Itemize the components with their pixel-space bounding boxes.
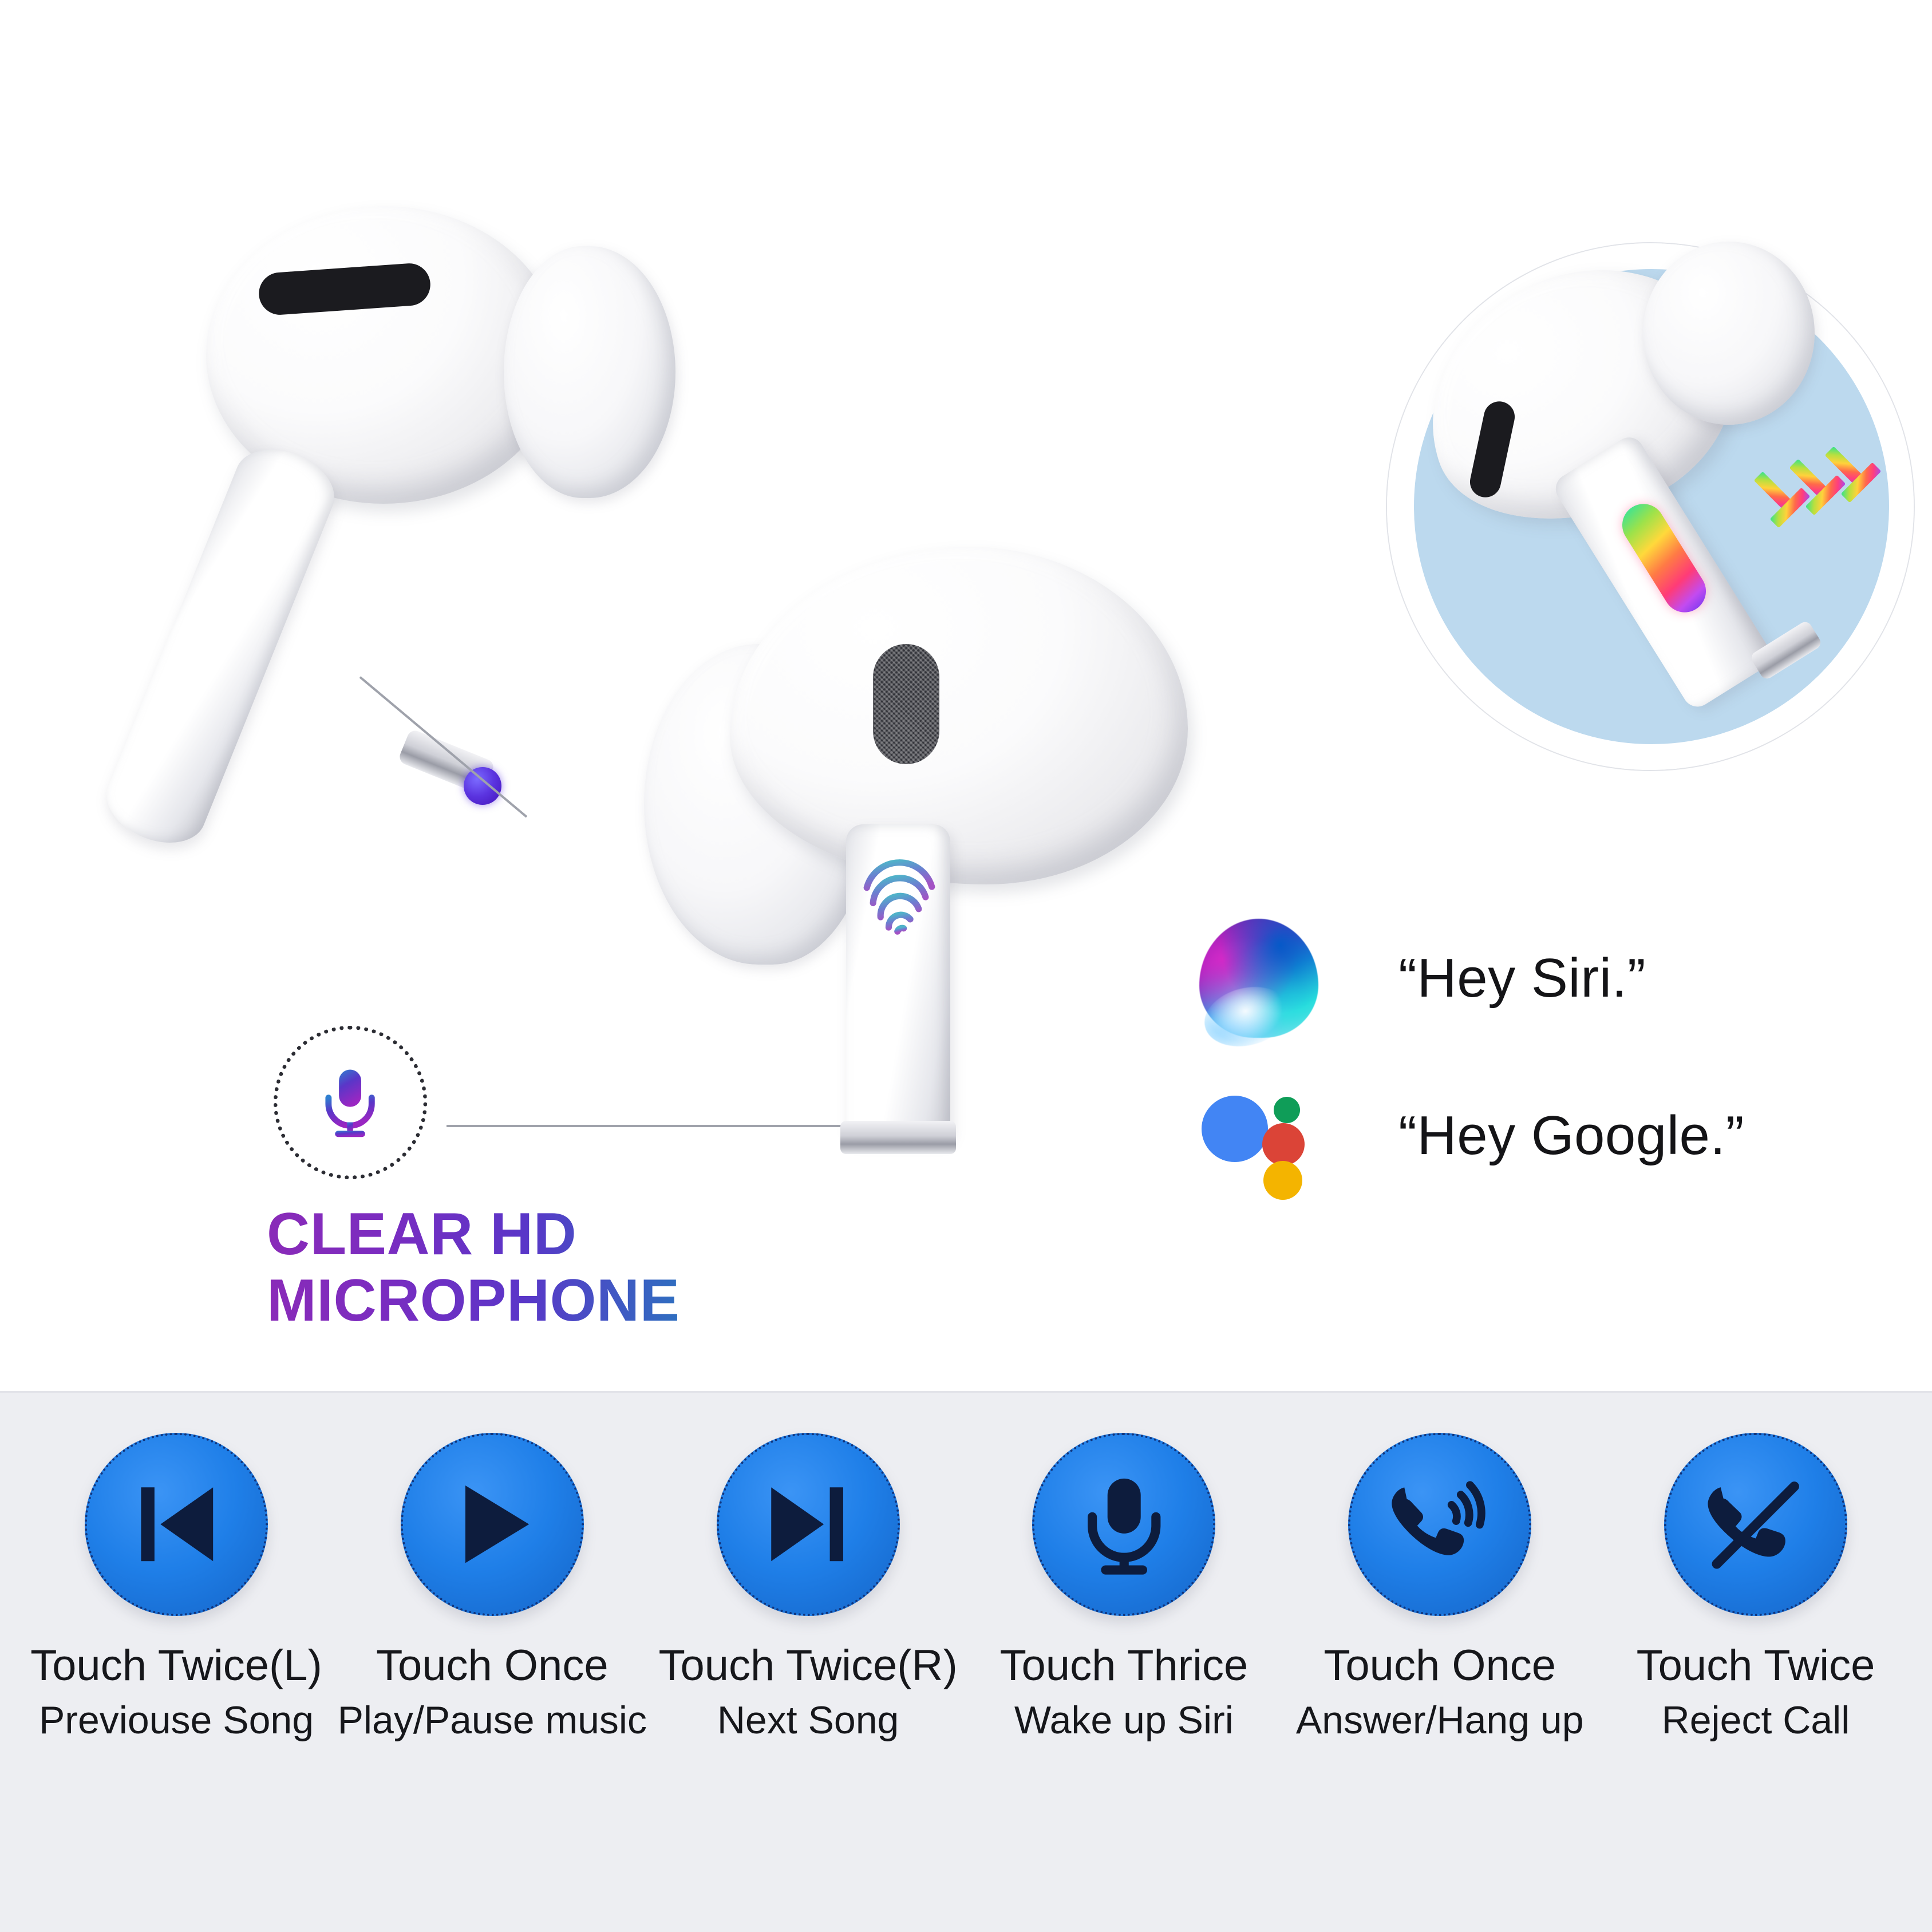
control-caption: Touch Once Play/Pause music (338, 1640, 647, 1743)
leader-line-horizontal (447, 1125, 853, 1127)
earbud-left-stem (96, 436, 346, 856)
phone-answer-icon (1384, 1469, 1495, 1579)
play-button[interactable] (401, 1433, 584, 1616)
next-track-icon (753, 1469, 863, 1579)
control-next-track[interactable]: Touch Twice(R) Next Song (665, 1433, 951, 1743)
assistant-label-google: “Hey Google.” (1398, 1104, 1744, 1167)
siri-icon (1199, 919, 1318, 1038)
control-wake-siri[interactable]: Touch Thrice Wake up Siri (981, 1433, 1267, 1743)
earbud-left-eartip (504, 246, 675, 498)
control-reject-call[interactable]: Touch Twice Reject Call (1613, 1433, 1899, 1743)
control-action: Touch Once (1296, 1640, 1584, 1692)
microphone-icon (1069, 1469, 1179, 1579)
fingerprint-icon (862, 856, 937, 937)
controls-row: Touch Twice(L) Previouse Song Touch Once… (0, 1433, 1932, 1743)
earbud-right-body (730, 547, 1188, 884)
assistant-label-siri: “Hey Siri.” (1398, 947, 1646, 1010)
previous-track-icon (121, 1469, 231, 1579)
earbud-right-charging-tip (840, 1121, 956, 1154)
clear-hd-microphone-label: CLEAR HD MICROPHONE (267, 1201, 679, 1334)
earbud-right-mesh-grille (873, 644, 939, 764)
assistant-row-google: “Hey Google.” (1199, 1076, 1744, 1195)
google-assistant-icon (1199, 1076, 1318, 1195)
control-result: Reject Call (1637, 1697, 1875, 1743)
control-caption: Touch Twice Reject Call (1637, 1640, 1875, 1743)
control-caption: Touch Thrice Wake up Siri (1000, 1640, 1249, 1743)
inset-earbud-eartip (1643, 242, 1815, 425)
reject-call-button[interactable] (1664, 1433, 1847, 1616)
answer-call-button[interactable] (1348, 1433, 1531, 1616)
leader-line-diagonal (359, 676, 528, 817)
inset-earbud-tip (1749, 619, 1823, 681)
control-caption: Touch Twice(L) Previouse Song (30, 1640, 322, 1743)
control-previous-track[interactable]: Touch Twice(L) Previouse Song (33, 1433, 319, 1743)
wake-siri-button[interactable] (1032, 1433, 1215, 1616)
control-caption: Touch Once Answer/Hang up (1296, 1640, 1584, 1743)
control-result: Answer/Hang up (1296, 1697, 1584, 1743)
control-result: Previouse Song (30, 1697, 322, 1743)
microphone-icon (311, 1060, 389, 1144)
control-result: Play/Pause music (338, 1697, 647, 1743)
assistant-row-siri: “Hey Siri.” (1199, 919, 1646, 1038)
control-action: Touch Thrice (1000, 1640, 1249, 1692)
controls-panel: Touch Twice(L) Previouse Song Touch Once… (0, 1391, 1932, 1932)
control-result: Wake up Siri (1000, 1697, 1249, 1743)
play-icon (437, 1469, 547, 1579)
control-action: Touch Twice(L) (30, 1640, 322, 1692)
microphone-indicator-dot (464, 767, 501, 805)
phone-reject-icon (1700, 1469, 1811, 1579)
control-caption: Touch Twice(R) Next Song (658, 1640, 957, 1743)
control-play-pause[interactable]: Touch Once Play/Pause music (349, 1433, 635, 1743)
control-action: Touch Twice (1637, 1640, 1875, 1692)
clear-hd-microphone-badge (274, 1026, 427, 1179)
control-result: Next Song (658, 1697, 957, 1743)
hero-section: CLEAR HD MICROPHONE (0, 0, 1932, 1391)
previous-track-button[interactable] (85, 1433, 268, 1616)
control-action: Touch Twice(R) (658, 1640, 957, 1692)
control-answer-call[interactable]: Touch Once Answer/Hang up (1297, 1433, 1583, 1743)
inset-touch-demo (1414, 269, 1889, 744)
next-track-button[interactable] (717, 1433, 900, 1616)
control-action: Touch Once (338, 1640, 647, 1692)
